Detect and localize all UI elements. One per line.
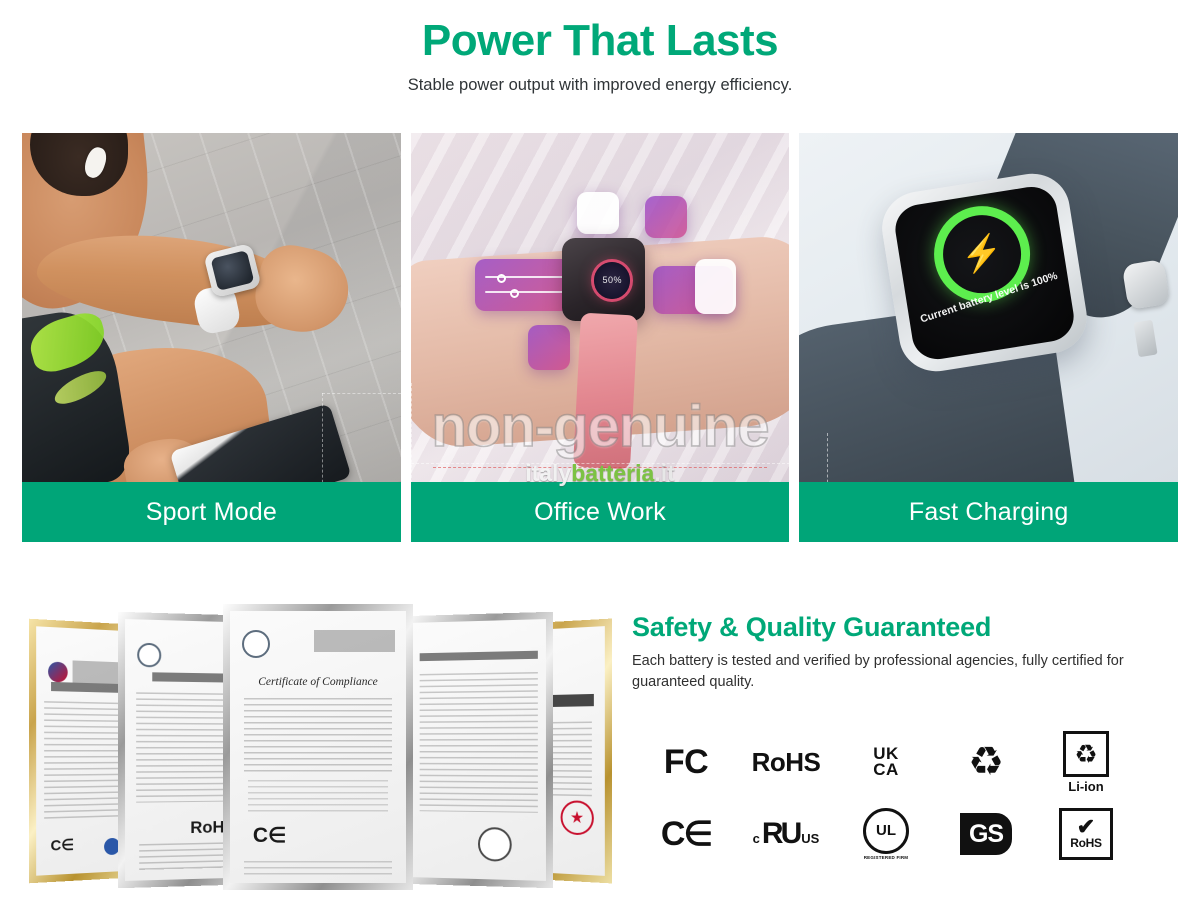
page-header: Power That Lasts Stable power output wit… — [0, 0, 1200, 95]
checkmark-icon: ✔ — [1077, 818, 1095, 836]
smartwatch-silver-icon: ⚡ Current battery level is 100% — [877, 168, 1092, 377]
ul-circle-icon: UL — [863, 808, 909, 854]
gs-badge: GS — [936, 798, 1036, 870]
feature-card-caption: Sport Mode — [22, 482, 401, 542]
recycle-badge: ♻ — [936, 726, 1036, 798]
office-work-photo: 50% — [411, 133, 790, 482]
ce-label: C∈ — [661, 814, 711, 854]
product-feature-page: Power That Lasts Stable power output wit… — [0, 0, 1200, 900]
feature-card-row: Sport Mode 50% — [22, 133, 1178, 542]
bar-chart-tile-icon — [695, 259, 737, 315]
watch-side-button-icon — [1134, 320, 1158, 357]
badge-row-2: C∈ c RU US UL REGISTERED FIRM — [636, 798, 1136, 870]
feature-card-caption: Office Work — [411, 482, 790, 542]
safety-heading: Safety & Quality Guaranteed — [632, 612, 1184, 643]
settings-tile-icon — [475, 259, 573, 311]
feature-card-office-work[interactable]: 50% Office Work — [411, 133, 790, 542]
fcc-badge: FC — [636, 726, 736, 798]
gs-label: GS — [969, 820, 1003, 849]
red-seal-icon: ★ — [560, 800, 593, 835]
cul-prefix: c — [753, 831, 760, 846]
page-subtitle: Stable power output with improved energy… — [0, 76, 1200, 95]
ul-sublabel: REGISTERED FIRM — [864, 855, 909, 861]
liion-recycle-icon: ♻ — [1063, 731, 1109, 777]
cul-us-badge: c RU US — [736, 798, 836, 870]
cul-suffix: US — [801, 831, 819, 846]
certificate-title: Certificate of Compliance — [230, 676, 406, 688]
battery-dial: 50% — [594, 262, 630, 299]
ce-badge: C∈ — [636, 798, 736, 870]
ul-registered-badge: UL REGISTERED FIRM — [836, 798, 936, 870]
fast-charging-photo: ⚡ Current battery level is 100% — [799, 133, 1178, 482]
rohs-badge: RoHS — [736, 726, 836, 798]
safety-panel: Safety & Quality Guaranteed Each battery… — [632, 612, 1184, 693]
certification-badges: FC RoHS UK CA ♻ ♻ Li-ion — [636, 726, 1136, 870]
sport-mode-photo — [22, 133, 401, 482]
liion-label: Li-ion — [1068, 779, 1103, 794]
gear-tile-icon — [528, 325, 570, 370]
rohs-check-badge: ✔ RoHS — [1036, 798, 1136, 870]
badge-row-1: FC RoHS UK CA ♻ ♻ Li-ion — [636, 726, 1136, 798]
certificate-of-compliance[interactable]: Certificate of Compliance C∈ — [223, 604, 413, 890]
ul-recognized-icon: RU — [762, 817, 799, 851]
safety-body: Each battery is tested and verified by p… — [632, 651, 1184, 693]
checkbox-tile-icon — [645, 196, 687, 238]
lightning-bolt-icon: ⚡ — [958, 234, 1005, 274]
gs-icon: GS — [960, 813, 1012, 855]
feature-card-caption: Fast Charging — [799, 482, 1178, 542]
fcc-label: FC — [664, 743, 708, 782]
contact-tile-icon — [577, 192, 619, 234]
dial-value: 50% — [603, 275, 623, 285]
ul-label: UL — [876, 822, 896, 839]
rohs-check-label: RoHS — [1070, 836, 1101, 850]
page-title: Power That Lasts — [0, 18, 1200, 64]
feature-card-sport-mode[interactable]: Sport Mode — [22, 133, 401, 542]
feature-card-fast-charging[interactable]: ⚡ Current battery level is 100% Fast Cha… — [799, 133, 1178, 542]
recycle-icon: ♻ — [968, 742, 1004, 782]
certificate-gallery: C∈ RoHS Certificate of Compliance C∈ — [18, 600, 618, 890]
rohs-label: RoHS — [752, 747, 821, 778]
liion-badge: ♻ Li-ion — [1036, 726, 1136, 798]
ukca-badge: UK CA — [836, 726, 936, 798]
watch-crown-icon — [1122, 259, 1170, 310]
certificate-china-compulsory[interactable] — [405, 612, 553, 889]
ukca-line2: CA — [873, 762, 899, 778]
